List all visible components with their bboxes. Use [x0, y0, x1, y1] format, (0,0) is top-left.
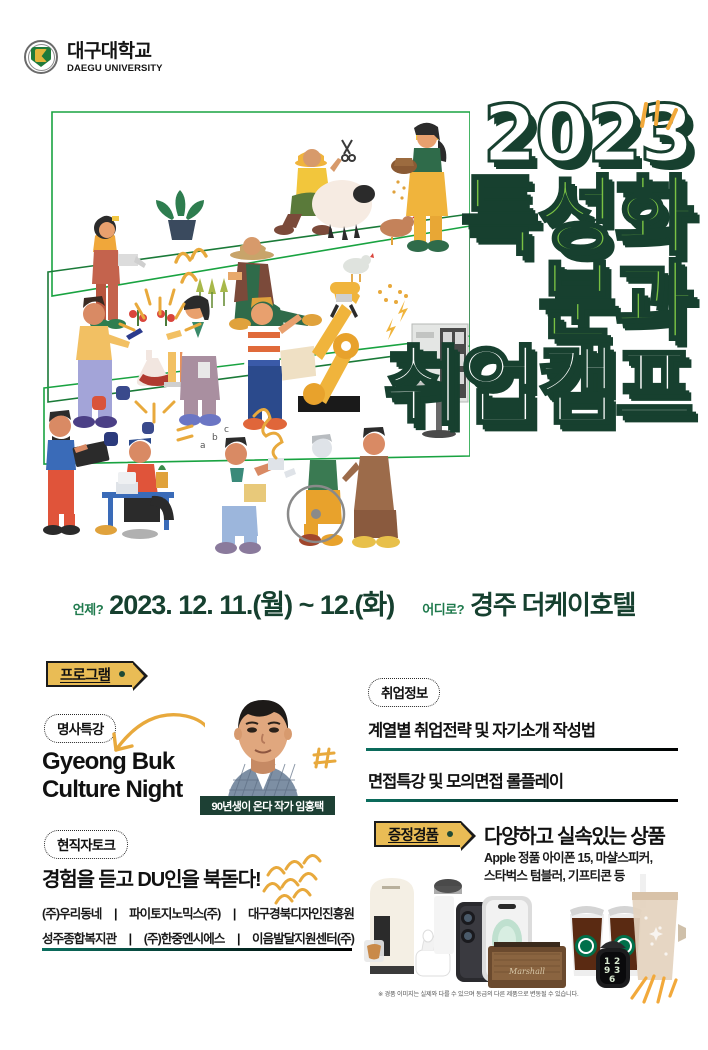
org-item: 파이토지노믹스(주) [129, 902, 220, 927]
gift-badge-label: 증정경품 [388, 824, 438, 845]
org-separator: | [114, 902, 117, 927]
when-value: 2023. 12. 11.(월) ~ 12.(화) [109, 583, 394, 622]
talk-headline: 경험을 듣고 DU인을 북돋다! [42, 863, 261, 892]
talk-divider [42, 948, 352, 951]
cheer-doodle-icon [262, 845, 334, 910]
university-logo: 대구대학교 DAEGU UNIVERSITY [24, 40, 163, 74]
gift-headline: 다양하고 실속있는 상품 [484, 820, 665, 849]
gift-detail-line1: Apple 정품 아이폰 15, 마샬스피커, [484, 849, 699, 867]
job-info-pill-label: 취업정보 [368, 678, 440, 707]
partner-row-1: (주)우리동네 | 파이토지노믹스(주) | 대구경북디자인진흥원 [42, 902, 354, 927]
program-badge-label: 프로그램 [60, 664, 110, 685]
svg-text:b: b [212, 433, 218, 443]
when-label: 언제? [73, 599, 103, 618]
partner-org-list: (주)우리동네 | 파이토지노믹스(주) | 대구경북디자인진흥원 성주종합복지… [42, 902, 354, 952]
hash-decoration-icon [312, 745, 338, 776]
title-line-2: 분과 [362, 263, 692, 342]
svg-text:6: 6 [609, 975, 615, 985]
logo-name-en: DAEGU UNIVERSITY [67, 64, 163, 74]
schedule-line: 언제? 2023. 12. 11.(월) ~ 12.(화) 어디로? 경주 더케… [0, 583, 708, 622]
badge-dot-icon [119, 671, 125, 677]
nespresso-machine-icon [364, 878, 414, 974]
title-line-3: 취업캠프 [362, 348, 692, 427]
job-info-divider-1 [366, 748, 678, 751]
keynote-pill-label: 명사특강 [44, 714, 116, 743]
poster-root: 대구대학교 DAEGU UNIVERSITY [0, 0, 708, 1050]
speaker-caption: 90년생이 온다 작가 임홍택 [200, 796, 335, 815]
badge-dot-icon [447, 831, 453, 837]
talk-pill-label: 현직자토크 [44, 830, 128, 859]
logo-name-kr: 대구대학교 [67, 42, 163, 61]
org-item: (주)우리동네 [42, 902, 102, 927]
gift-badge: 증정경품 [374, 821, 461, 847]
where-label: 어디로? [422, 599, 464, 618]
gift-sparkle-icon [626, 962, 682, 1009]
title-line-1: 특성화 [362, 178, 692, 257]
talk-pill: 현직자토크 [44, 830, 128, 859]
keynote-pill: 명사특강 [44, 714, 116, 743]
program-badge: 프로그램 [46, 661, 133, 687]
svg-text:Marshall: Marshall [508, 967, 545, 976]
job-info-divider-2 [366, 799, 678, 802]
daegu-university-emblem-icon [24, 40, 58, 74]
sparkle-icon [632, 96, 682, 143]
marshall-speaker-icon: Marshall [488, 942, 566, 988]
svg-text:a: a [200, 441, 206, 451]
job-info-pill: 취업정보 [368, 678, 440, 707]
poster-title: 2023 특성화 분과 취업캠프 [362, 100, 692, 427]
speaker-photo [205, 690, 320, 805]
job-info-item-1: 계열별 취업전략 및 자기소개 작성법 [368, 717, 595, 741]
where-value: 경주 더케이호텔 [470, 585, 635, 622]
svg-text:c: c [224, 425, 229, 435]
job-info-item-2: 면접특강 및 모의면접 롤플레이 [368, 768, 563, 792]
org-separator: | [233, 902, 236, 927]
gift-disclaimer: ※ 경품 이미지는 실제와 다를 수 있으며 동급의 다른 제품으로 변동될 수… [378, 989, 579, 998]
org-item: 대구경북디자인진흥원 [248, 902, 354, 927]
